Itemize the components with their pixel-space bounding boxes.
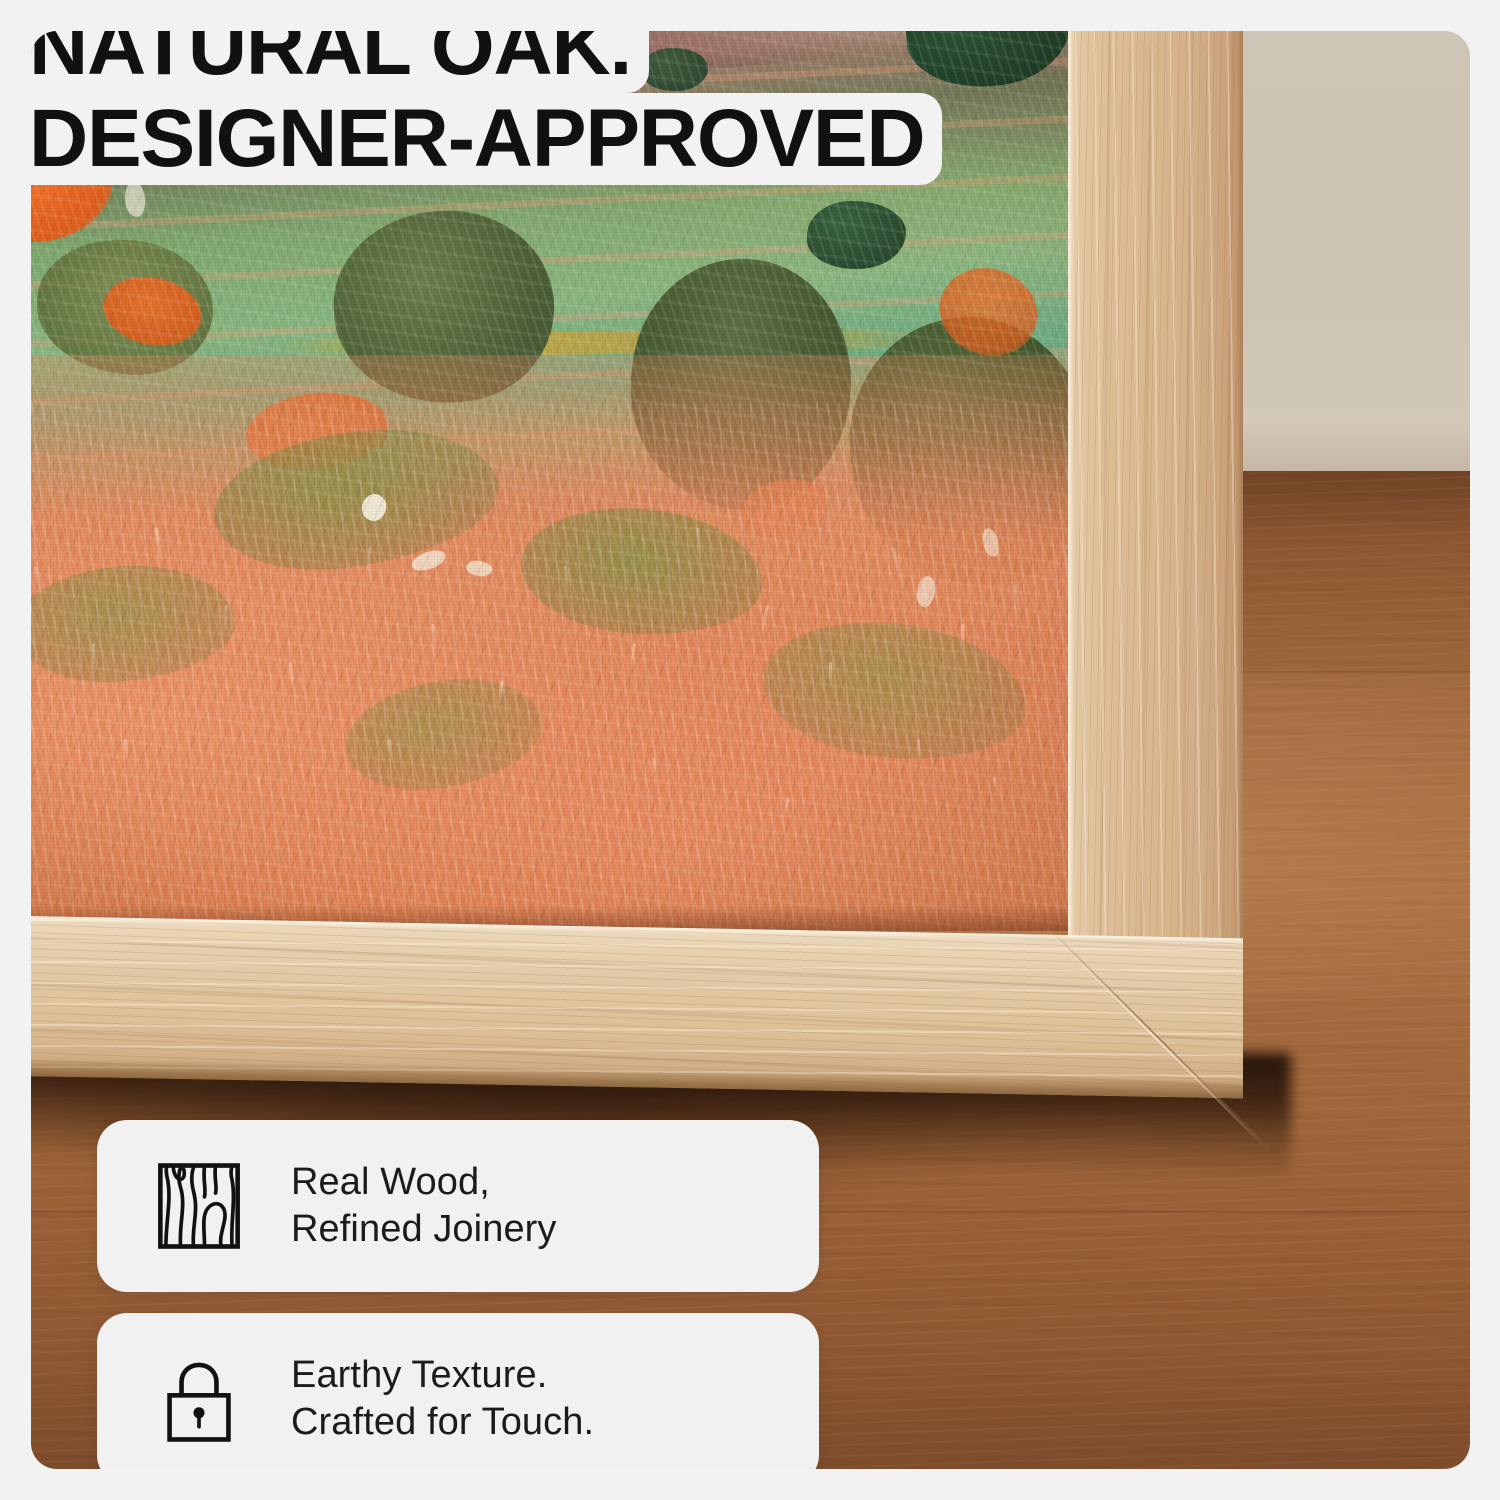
headline-line-1-wrap: NATURAL OAK.	[31, 31, 649, 93]
headline-line-2-wrap: DESIGNER-APPROVED	[31, 93, 942, 185]
headline-line-1-text: NATURAL OAK.	[31, 31, 631, 92]
oak-picture-frame: NATURAL OAK. DESIGNER-APPROVED	[31, 31, 1273, 1071]
headline-line-2-text: DESIGNER-APPROVED	[31, 93, 924, 184]
frame-right-stile	[1068, 31, 1243, 1056]
product-marketing-image: NATURAL OAK. DESIGNER-APPROVED Real Wo	[0, 0, 1500, 1500]
feature-badge-real-wood[interactable]: Real Wood, Refined Joinery	[97, 1120, 819, 1292]
frame-bottom-rail	[31, 915, 1243, 1098]
feature-badge-real-wood-text: Real Wood, Refined Joinery	[291, 1159, 557, 1253]
oak-grain-texture	[1068, 31, 1243, 1056]
frame-outer-edge-shadow	[1237, 31, 1243, 1056]
frame-inner-edge-highlight	[1068, 31, 1075, 1056]
feature-badge-earthy-texture[interactable]: Earthy Texture. Crafted for Touch.	[97, 1313, 819, 1469]
headline-line-2: DESIGNER-APPROVED	[31, 93, 942, 185]
headline-line-1: NATURAL OAK.	[31, 31, 649, 93]
lock-icon	[153, 1353, 245, 1445]
feature-badge-earthy-texture-text: Earthy Texture. Crafted for Touch.	[291, 1352, 594, 1446]
product-photo-card: NATURAL OAK. DESIGNER-APPROVED Real Wo	[31, 31, 1470, 1469]
wood-grain-icon	[153, 1160, 245, 1252]
